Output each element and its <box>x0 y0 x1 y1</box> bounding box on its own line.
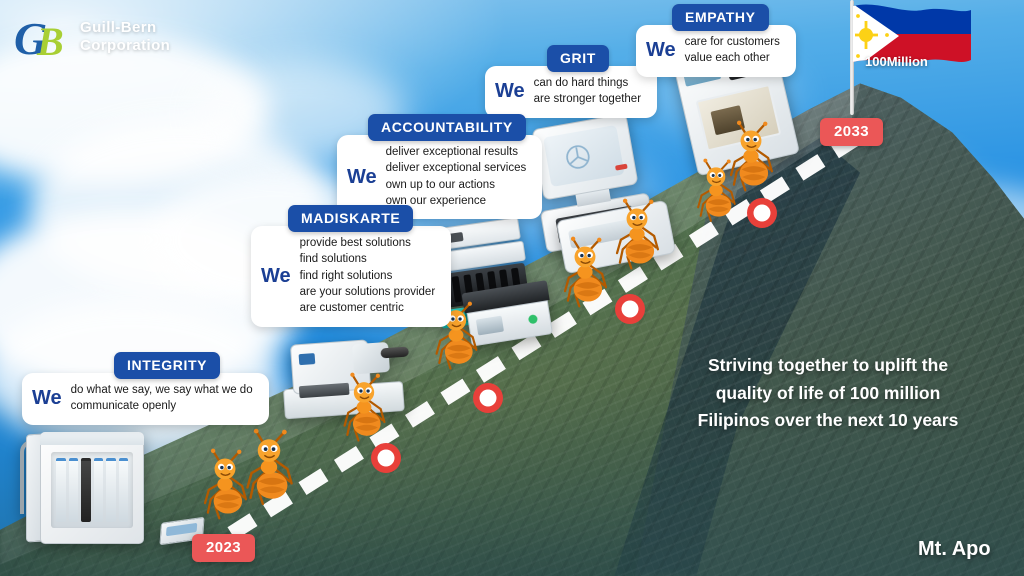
value-we-label: We <box>646 40 676 60</box>
mission-line-2: quality of life of 100 million <box>672 380 984 408</box>
logo-mark-icon: G B <box>14 12 70 62</box>
milestone-marker <box>473 383 503 413</box>
company-name-line1: Guill-Bern <box>80 19 170 37</box>
year-tag-end: 2033 <box>820 118 883 146</box>
value-badge-madiskarte: MADISKARTE <box>288 205 413 232</box>
value-lines: do what we say, we say what we do commun… <box>71 382 253 415</box>
company-logo[interactable]: G B Guill-Bern Corporation <box>14 12 170 62</box>
value-line: do what we say, we say what we do <box>71 382 253 398</box>
ant-character <box>336 372 392 446</box>
value-line: communicate openly <box>71 398 253 414</box>
value-line: value each other <box>685 50 780 66</box>
milestone-marker <box>371 443 401 473</box>
value-we-label: We <box>32 388 62 408</box>
ant-character <box>556 236 614 312</box>
value-badge-empathy: EMPATHY <box>672 4 769 31</box>
value-line: deliver exceptional results <box>386 144 527 160</box>
value-line: are your solutions provider <box>300 284 436 300</box>
value-badge-grit: GRIT <box>547 45 609 72</box>
ant-character <box>722 120 780 196</box>
company-name-line2: Corporation <box>80 37 170 55</box>
value-body-grit: We can do hard things are stronger toget… <box>485 66 657 118</box>
value-line: find solutions <box>300 251 436 267</box>
mountain-label: Mt. Apo <box>918 538 991 561</box>
value-lines: care for customers value each other <box>685 34 780 67</box>
milestone-marker <box>615 294 645 324</box>
value-callout-accountability: ACCOUNTABILITY We deliver exceptional re… <box>337 114 542 219</box>
value-body-integrity: We do what we say, we say what we do com… <box>22 373 269 425</box>
value-lines: provide best solutions find solutions fi… <box>300 235 436 317</box>
value-line: are customer centric <box>300 300 436 316</box>
value-body-empathy: We care for customers value each other <box>636 25 796 77</box>
propeller-icon <box>563 142 593 172</box>
value-line: find right solutions <box>300 268 436 284</box>
milestone-marker <box>747 198 777 228</box>
value-line: provide best solutions <box>300 235 436 251</box>
value-line: can do hard things <box>534 75 641 91</box>
value-we-label: We <box>347 167 377 187</box>
value-badge-accountability: ACCOUNTABILITY <box>368 114 526 141</box>
ant-character <box>608 198 666 274</box>
company-name: Guill-Bern Corporation <box>80 19 170 54</box>
mission-statement: Striving together to uplift the quality … <box>672 352 984 435</box>
value-we-label: We <box>261 266 291 286</box>
value-line: own up to our actions <box>386 177 527 193</box>
lab-analyzer-equipment <box>18 424 150 552</box>
value-callout-madiskarte: MADISKARTE We provide best solutions fin… <box>251 205 451 327</box>
value-callout-grit: GRIT We can do hard things are stronger … <box>485 45 657 118</box>
logo-letter-b: B <box>37 22 64 62</box>
value-lines: can do hard things are stronger together <box>534 75 641 108</box>
value-body-madiskarte: We provide best solutions find solutions… <box>251 226 451 327</box>
value-lines: deliver exceptional results deliver exce… <box>386 144 527 209</box>
value-badge-integrity: INTEGRITY <box>114 352 220 379</box>
mission-line-1: Striving together to uplift the <box>672 352 984 380</box>
value-line: deliver exceptional services <box>386 160 527 176</box>
ant-character <box>238 428 300 510</box>
value-callout-empathy: EMPATHY We care for customers value each… <box>636 4 796 77</box>
value-line: are stronger together <box>534 91 641 107</box>
year-tag-start: 2023 <box>192 534 255 562</box>
mission-line-3: Filipinos over the next 10 years <box>672 407 984 435</box>
value-callout-integrity: INTEGRITY We do what we say, we say what… <box>22 352 269 425</box>
value-line: care for customers <box>685 34 780 50</box>
infographic-canvas: 100Million <box>0 0 1024 576</box>
value-we-label: We <box>495 81 525 101</box>
